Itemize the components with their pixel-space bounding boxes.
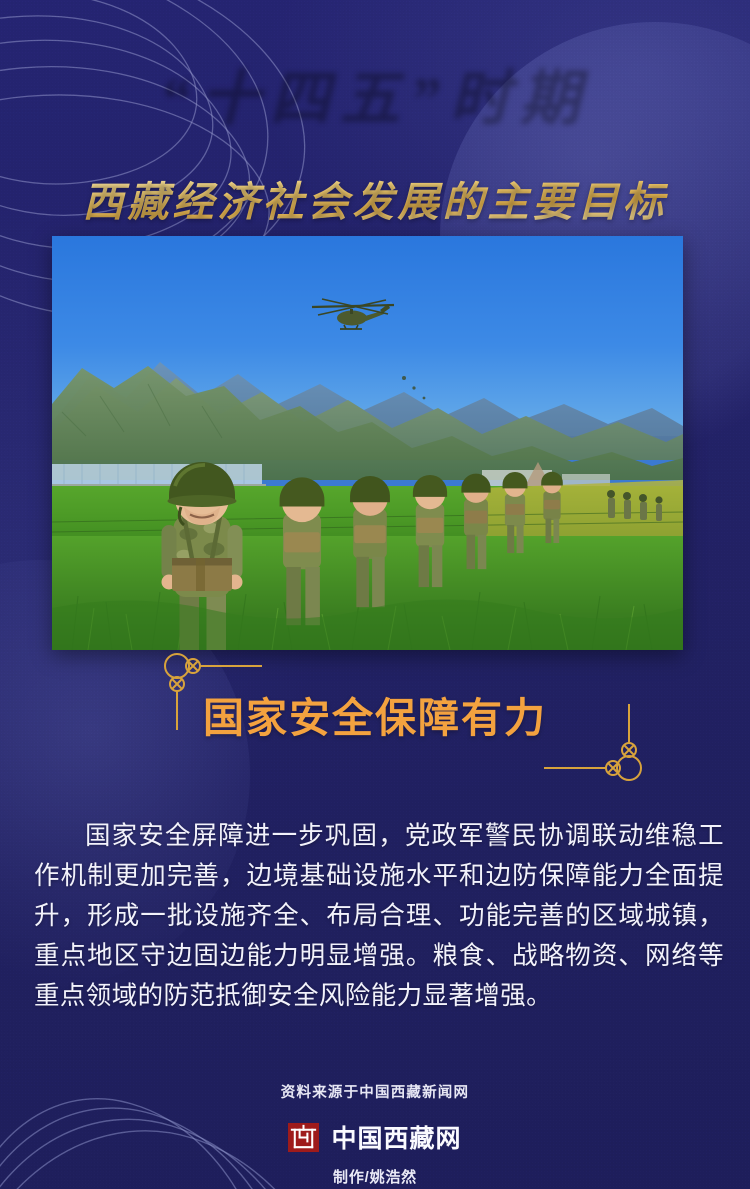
brand-row: 中国西藏网 xyxy=(0,1119,750,1155)
hero-photo-illustration xyxy=(52,236,683,650)
footer: 资料来源于中国西藏新闻网 中国西藏网 制作/姚浩然 xyxy=(0,1081,750,1187)
china-tibet-net-seal-icon xyxy=(288,1122,319,1153)
page-subtitle: 西藏经济社会发展的主要目标 xyxy=(0,168,750,228)
credit-line: 制作/姚浩然 xyxy=(0,1166,750,1187)
poster-root: “十四五”时期 西藏经济社会发展的主要目标 xyxy=(0,0,750,1189)
brand-name: 中国西藏网 xyxy=(331,1119,461,1155)
body-paragraph: 国家安全屏障进一步巩固，党政军警民协调联动维稳工作机制更加完善，边境基础设施水平… xyxy=(34,816,724,1016)
hero-photo xyxy=(52,236,683,650)
source-attribution: 资料来源于中国西藏新闻网 xyxy=(0,1081,750,1102)
section-heading: 国家安全保障有力 xyxy=(0,684,750,744)
page-title: “十四五”时期 xyxy=(0,48,750,135)
